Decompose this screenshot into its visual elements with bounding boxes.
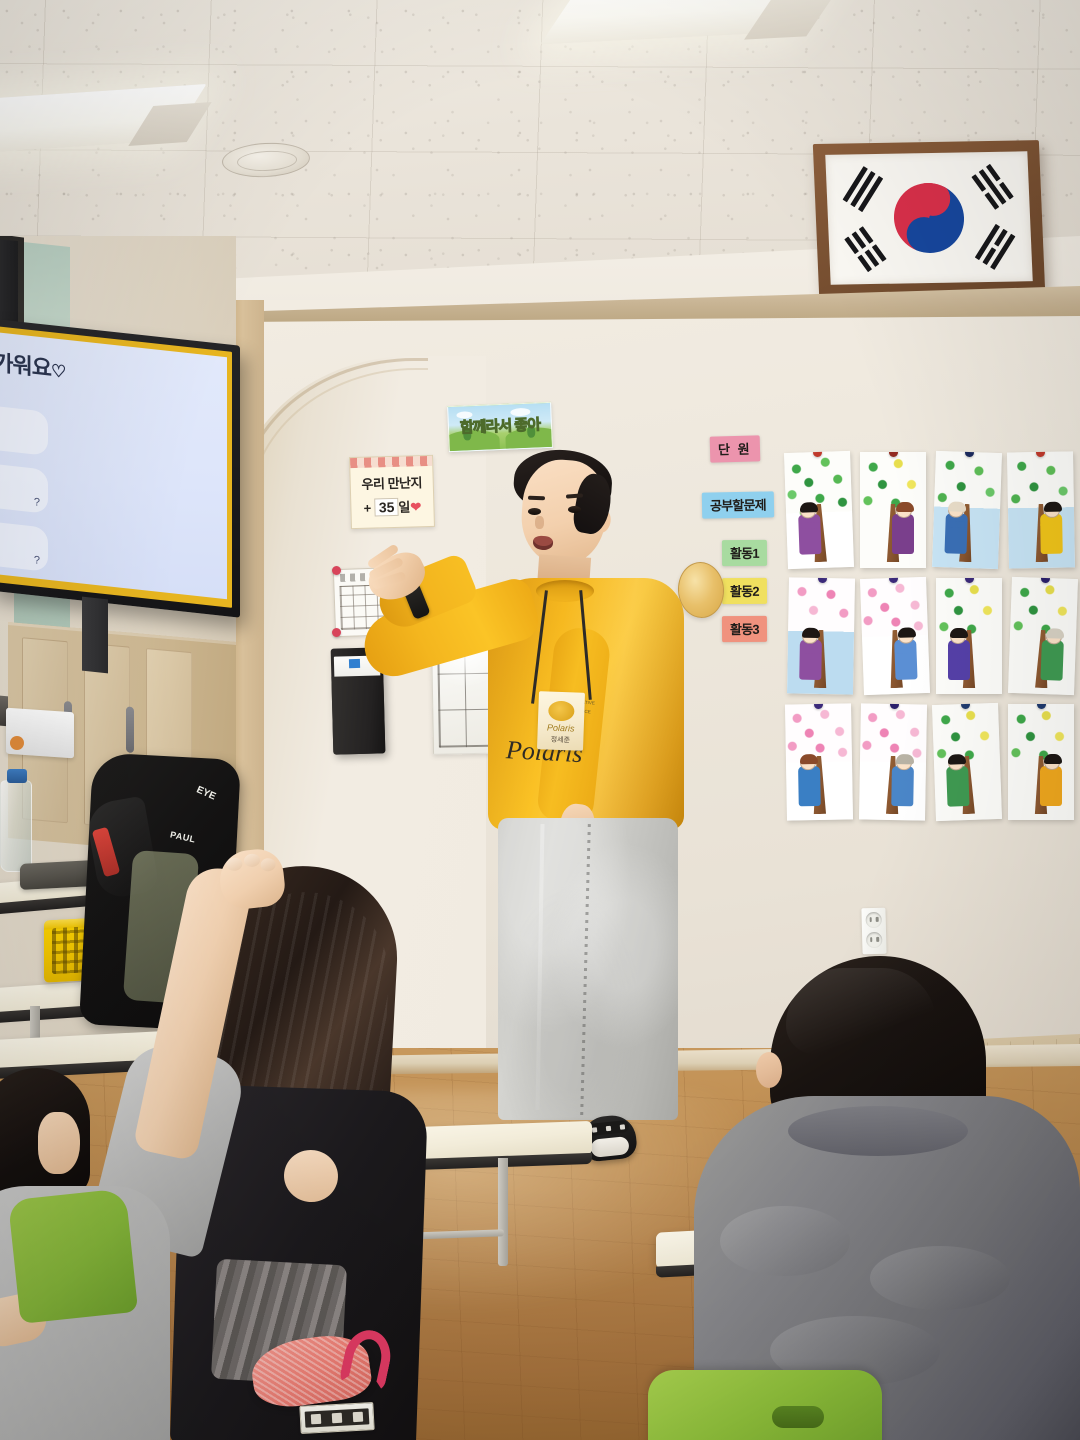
- tv-box-3-text: ?: [34, 554, 40, 567]
- student-artwork[interactable]: [860, 577, 930, 695]
- studentB-collar: [788, 1106, 968, 1156]
- artwork-child-body: [798, 766, 821, 806]
- artwork-child-body: [1040, 514, 1063, 554]
- artwork-child-hair: [948, 501, 966, 512]
- studentB-ear: [756, 1052, 782, 1088]
- artwork-child-hair: [1046, 628, 1064, 639]
- pencil-case[interactable]: [20, 860, 94, 890]
- artwork-child-body: [894, 639, 917, 680]
- artwork-child-head: [950, 629, 966, 644]
- artwork-child-body: [948, 640, 970, 680]
- artwork-child-arm: [892, 522, 912, 528]
- lesson-label-activity-1: 활동1: [722, 540, 767, 566]
- artwork-child-arm: [1040, 774, 1060, 780]
- tv-slide-title: 반가워요♡: [0, 343, 65, 385]
- artwork-child-arm: [947, 521, 967, 528]
- teacher-nose: [535, 516, 544, 529]
- student-artwork[interactable]: [784, 451, 854, 569]
- artwork-child-hair: [948, 754, 966, 765]
- artwork-child-arm: [1040, 522, 1060, 528]
- artwork-child-hair: [802, 628, 820, 638]
- artwork-child-body: [944, 513, 967, 554]
- artwork-child-body: [891, 766, 914, 806]
- teacher-eye-left: [528, 508, 541, 515]
- artwork-child-arm: [800, 522, 820, 529]
- teacher-name-badge: Polaris 정세준: [537, 691, 585, 751]
- artwork-child-body: [1040, 766, 1062, 806]
- taeguk-symbol-icon: [893, 182, 966, 253]
- chair-handle-slot: [772, 1406, 824, 1428]
- paper-blue-tab: [349, 659, 360, 668]
- student-artwork[interactable]: [787, 577, 855, 694]
- student-artwork-grid: [786, 452, 1078, 830]
- tv-heart-icon: ♡: [51, 361, 65, 382]
- artwork-child-hair: [896, 754, 914, 764]
- studentA-raised-fist: [217, 847, 287, 911]
- wall-mounted-tv[interactable]: 반가워요♡ ? ?: [0, 318, 240, 617]
- desk-front-leg-1: [498, 1158, 508, 1266]
- artwork-child-arm: [892, 774, 912, 780]
- artwork-child-head: [1044, 755, 1060, 770]
- artwork-child-hair: [1044, 502, 1062, 512]
- artwork-child-hair: [896, 502, 914, 512]
- artwork-child-body: [946, 766, 969, 807]
- artwork-child-body: [1040, 640, 1063, 681]
- tv-slide-box-2: ?: [0, 458, 48, 514]
- badge-logo-icon: [548, 701, 575, 722]
- student-artwork[interactable]: [860, 452, 926, 568]
- white-storage-box: [6, 708, 74, 759]
- tv-bezel: 반가워요♡ ? ?: [0, 326, 232, 608]
- wall-power-outlet[interactable]: [861, 908, 886, 955]
- trigram-gam-icon: [970, 164, 1014, 211]
- nametag-inner: [305, 1408, 370, 1427]
- student-artwork[interactable]: [1008, 704, 1074, 820]
- artwork-child-arm: [950, 648, 970, 654]
- outlet-socket-2[interactable]: [866, 932, 882, 948]
- orange-object: [10, 736, 24, 750]
- artwork-child-head: [896, 503, 912, 518]
- studentC-face: [38, 1112, 80, 1174]
- green-chair-left[interactable]: [8, 1188, 138, 1324]
- artwork-child-body: [798, 514, 821, 555]
- sandal-strap: [586, 1120, 629, 1136]
- trigram-gon-icon: [844, 225, 888, 272]
- water-bottle[interactable]: [0, 780, 32, 872]
- teacher-eye-right: [568, 506, 581, 513]
- artwork-child-arm: [894, 647, 914, 654]
- artwork-child-hair: [1044, 754, 1062, 764]
- student-artwork[interactable]: [1007, 451, 1075, 568]
- lesson-label-activity-3: 활동3: [722, 616, 767, 642]
- cabinet-handle-2[interactable]: [126, 706, 134, 753]
- magnet-red-1[interactable]: [332, 566, 341, 575]
- magnet-red-2[interactable]: [332, 628, 341, 637]
- artwork-child-arm: [800, 774, 820, 780]
- studentA-knuckle-2: [243, 853, 260, 868]
- classroom-scene: 반가워요♡ ? ? 함께라서 좋아 우리 만난지 + 35일❤ 단 원 공부할문…: [0, 0, 1080, 1440]
- studentB-hair-highlight: [786, 968, 936, 1054]
- student-artwork[interactable]: [1008, 577, 1078, 695]
- student-artwork[interactable]: [932, 703, 1002, 821]
- artwork-child-body: [892, 514, 914, 554]
- artwork-child-arm: [948, 774, 968, 781]
- tv-screen[interactable]: 반가워요♡ ? ?: [0, 333, 227, 600]
- student-artwork[interactable]: [936, 578, 1002, 694]
- artwork-child-hair: [800, 754, 818, 764]
- badge-brand: Polaris: [538, 722, 584, 734]
- framed-national-flag: [813, 140, 1045, 296]
- artwork-child-hair: [950, 628, 968, 638]
- student-grey-hoodie: [660, 956, 1080, 1440]
- tv-slide-box-1: [0, 400, 48, 456]
- green-chair-right[interactable]: [648, 1370, 882, 1440]
- artwork-child-hair: [898, 627, 916, 638]
- artwork-child-arm: [1041, 648, 1061, 655]
- sandal-sole: [590, 1136, 630, 1158]
- lesson-label-activity-2: 활동2: [722, 578, 767, 604]
- tv-slide-box-3: ?: [0, 516, 48, 572]
- student-artwork[interactable]: [859, 703, 927, 820]
- student-artwork[interactable]: [785, 703, 853, 820]
- classroom-banner: 함께라서 좋아: [447, 402, 553, 452]
- tv-box-2-text: ?: [34, 496, 40, 509]
- studentB-fold-2: [870, 1246, 1010, 1310]
- student-artwork[interactable]: [932, 451, 1002, 569]
- artwork-child-hair: [800, 502, 818, 513]
- badge-name: 정세준: [537, 734, 583, 746]
- banner-text: 함께라서 좋아: [449, 413, 552, 438]
- trigram-ri-icon: [973, 223, 1015, 270]
- trigram-geon-icon: [843, 166, 885, 213]
- studentB-fold-1: [720, 1206, 850, 1276]
- artwork-child-arm: [802, 648, 822, 654]
- artwork-child-body: [799, 640, 822, 680]
- studentA-knuckle-3: [260, 857, 276, 871]
- studentA-knuckle-1: [226, 857, 243, 872]
- outlet-socket-1[interactable]: [866, 912, 882, 928]
- tv-stand-post: [82, 597, 108, 674]
- teacher-brow-left: [528, 496, 545, 501]
- flag-face: [825, 151, 1032, 284]
- desk-nametag: [299, 1402, 374, 1434]
- bottle-cap[interactable]: [7, 769, 27, 783]
